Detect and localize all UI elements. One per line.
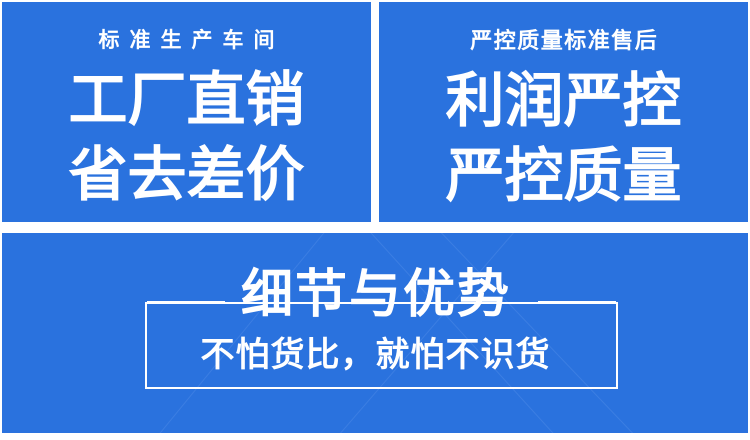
panel-bottom-title: 细节与优势 (2, 269, 748, 321)
panel-details-advantages: 细节与优势 不怕货比，就怕不识货 (2, 233, 748, 433)
panel-left-headline-line1: 工厂直销 (68, 71, 304, 130)
panel-quality-control: 严控质量标准售后 利润严控 严控质量 (379, 2, 748, 222)
panel-quality-control-content: 严控质量标准售后 利润严控 严控质量 (379, 2, 748, 222)
promo-banner: 标准生产车间 工厂直销 省去差价 严控质量标准售后 利润严控 严控质量 (0, 0, 750, 440)
panel-bottom-subtitle: 不怕货比，就怕不识货 (2, 338, 748, 372)
panel-right-headline-line2: 严控质量 (445, 147, 681, 206)
panel-right-eyebrow: 严控质量标准售后 (469, 30, 659, 52)
panel-factory-direct: 标准生产车间 工厂直销 省去差价 (2, 2, 371, 222)
panel-left-eyebrow: 标准生产车间 (89, 30, 285, 51)
panel-right-headline-line1: 利润严控 (445, 72, 681, 131)
panel-factory-direct-content: 标准生产车间 工厂直销 省去差价 (2, 2, 371, 222)
panel-bottom-content: 细节与优势 不怕货比，就怕不识货 (2, 233, 748, 433)
panel-left-headline-line2: 省去差价 (68, 146, 304, 205)
